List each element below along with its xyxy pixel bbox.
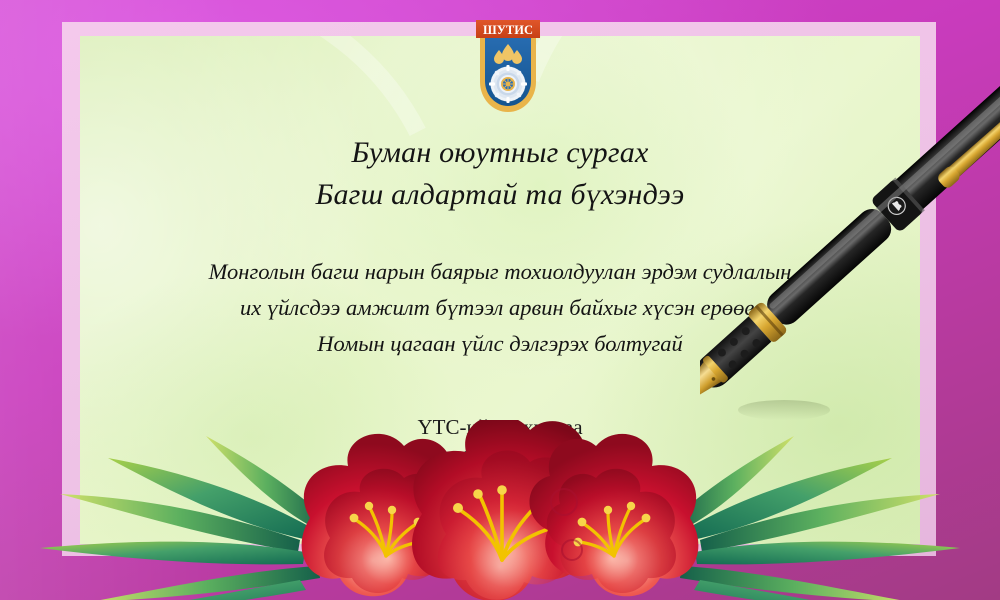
emblem-banner-text: ШУТИС <box>483 23 533 37</box>
shutis-emblem-icon: ШУТИС <box>474 8 542 120</box>
fountain-pen-icon <box>700 0 1000 500</box>
greeting-card-image: Буман оюутныг сургах Багш алдартай та бү… <box>0 0 1000 600</box>
leaf-group-left <box>40 436 326 600</box>
